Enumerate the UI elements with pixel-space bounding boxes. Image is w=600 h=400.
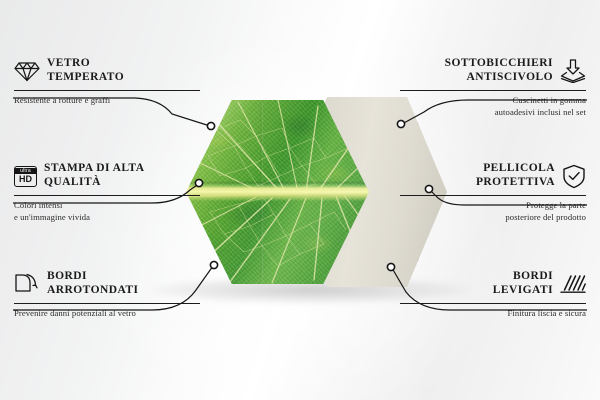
rounded-corner-icon	[14, 272, 40, 296]
diamond-icon	[14, 60, 40, 82]
callout-title: BORDI LEVIGATI	[493, 270, 553, 297]
callout-title: VETRO TEMPERATO	[47, 57, 124, 84]
callout-divider	[14, 195, 200, 196]
callout-title: SOTTOBICCHIERI ANTISCIVOLO	[445, 57, 553, 84]
callout-vetro-temperato: VETRO TEMPERATO Resistente a rotture e g…	[14, 56, 200, 107]
callout-bordi-levigati: BORDI LEVIGATI Finitura liscia e sicura	[400, 269, 586, 320]
callout-header: VETRO TEMPERATO	[14, 56, 200, 86]
shield-check-icon	[562, 164, 586, 189]
infographic-canvas: VETRO TEMPERATO Resistente a rotture e g…	[0, 0, 600, 400]
callout-divider	[14, 303, 200, 304]
leader-endpoint-marker	[387, 263, 394, 270]
callout-title: BORDI ARROTONDATI	[47, 270, 138, 297]
leader-endpoint-marker	[207, 122, 214, 129]
callout-divider	[400, 90, 586, 91]
callout-divider	[400, 195, 586, 196]
callout-bordi-arrotondati: BORDI ARROTONDATI Prevenire danni potenz…	[14, 269, 200, 320]
callout-header: SOTTOBICCHIERI ANTISCIVOLO	[400, 56, 586, 86]
polished-edge-icon	[560, 273, 586, 295]
anti-slip-pad-icon	[560, 59, 586, 83]
callout-title: PELLICOLA PROTETTIVA	[476, 162, 555, 189]
callout-header: BORDI ARROTONDATI	[14, 269, 200, 299]
callout-subtitle: Prevenire danni potenziali al vetro	[14, 308, 200, 320]
callout-subtitle: Resistente a rotture e graffi	[14, 95, 200, 107]
callout-header: BORDI LEVIGATI	[400, 269, 586, 299]
callout-subtitle: Cuscinetti in gomma autoadesivi inclusi …	[400, 95, 586, 118]
callout-title: STAMPA DI ALTA QUALITÀ	[44, 162, 144, 189]
leader-endpoint-marker	[397, 120, 404, 127]
callout-header: ultra HD STAMPA DI ALTA QUALITÀ	[14, 161, 200, 191]
callout-sottobicchieri-antiscivolo: SOTTOBICCHIERI ANTISCIVOLO Cuscinetti in…	[400, 56, 586, 118]
callout-divider	[400, 303, 586, 304]
callout-header: PELLICOLA PROTETTIVA	[400, 161, 586, 191]
callout-stampa-alta-qualita: ultra HD STAMPA DI ALTA QUALITÀ Colori i…	[14, 161, 200, 223]
callout-subtitle: Protegge la parte posteriore del prodott…	[400, 200, 586, 223]
callout-divider	[14, 90, 200, 91]
leader-endpoint-marker	[210, 261, 217, 268]
callout-subtitle: Colori intensi e un'immagine vivida	[14, 200, 200, 223]
callout-pellicola-protettiva: PELLICOLA PROTETTIVA Protegge la parte p…	[400, 161, 586, 223]
callout-subtitle: Finitura liscia e sicura	[400, 308, 586, 320]
ultra-hd-badge-icon: ultra HD	[14, 166, 37, 187]
